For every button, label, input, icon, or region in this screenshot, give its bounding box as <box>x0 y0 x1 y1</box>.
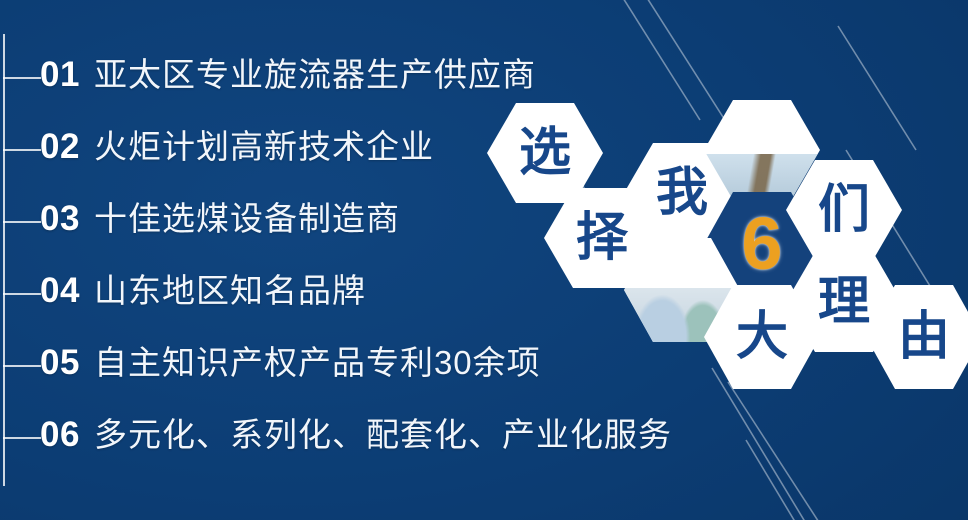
benefit-row: 01亚太区专业旋流器生产供应商 <box>40 57 536 92</box>
hex-li-glyph: 理 <box>818 276 870 328</box>
benefit-text: 自主知识产权产品专利30余项 <box>94 346 541 379</box>
benefit-number: 01 <box>40 57 80 92</box>
axis-tick <box>3 149 41 151</box>
axis-tick <box>3 437 41 439</box>
poster-canvas: 01亚太区专业旋流器生产供应商02火炬计划高新技术企业03十佳选煤设备制造商04… <box>0 0 968 520</box>
benefit-text: 火炬计划高新技术企业 <box>94 130 434 163</box>
hex-xuan-glyph: 选 <box>519 127 571 179</box>
benefit-number: 06 <box>40 417 80 452</box>
benefit-number: 03 <box>40 201 80 236</box>
hex-six-glyph: 6 <box>741 207 782 281</box>
diagonal-line <box>728 382 824 520</box>
benefit-text: 多元化、系列化、配套化、产业化服务 <box>94 418 672 451</box>
benefit-text: 山东地区知名品牌 <box>94 274 366 307</box>
axis-tick <box>3 77 41 79</box>
hex-wo-glyph: 我 <box>656 167 708 219</box>
benefit-number: 05 <box>40 345 80 380</box>
benefit-number: 04 <box>40 273 80 308</box>
axis-tick <box>3 221 41 223</box>
hex-ze-glyph: 择 <box>576 212 628 264</box>
benefit-row: 02火炬计划高新技术企业 <box>40 129 434 164</box>
hex-you-glyph: 由 <box>898 311 950 363</box>
benefit-row: 05自主知识产权产品专利30余项 <box>40 345 541 380</box>
axis-tick <box>3 365 41 367</box>
hex-da-glyph: 大 <box>736 311 788 363</box>
benefit-text: 亚太区专业旋流器生产供应商 <box>94 58 536 91</box>
diagonal-line <box>838 26 916 150</box>
benefit-row: 04山东地区知名品牌 <box>40 273 366 308</box>
diagonal-line <box>642 0 730 128</box>
axis-tick <box>3 293 41 295</box>
diagonal-line <box>712 368 810 520</box>
benefit-number: 02 <box>40 129 80 164</box>
hex-men-glyph: 们 <box>818 184 870 236</box>
diagonal-line <box>746 440 800 520</box>
vertical-axis-line <box>3 34 5 486</box>
benefit-row: 03十佳选煤设备制造商 <box>40 201 400 236</box>
benefit-row: 06多元化、系列化、配套化、产业化服务 <box>40 417 672 452</box>
benefit-text: 十佳选煤设备制造商 <box>94 202 400 235</box>
diagonal-line <box>618 0 700 120</box>
